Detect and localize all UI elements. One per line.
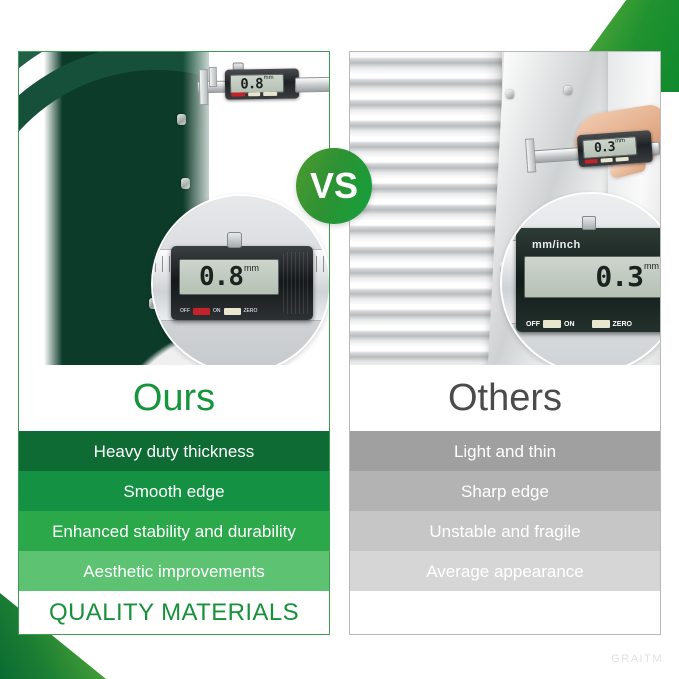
watermark: GRAITM [611,654,663,665]
bolt-icon [564,86,572,95]
caliper-display-large: 0.8 mm [179,259,279,295]
caliper-on-button[interactable] [601,158,613,163]
caliper-thumb-wheel[interactable] [582,216,596,230]
panel-title-row-ours: Ours [19,365,329,431]
caliper-button-row-large: OFF ON ZERO [526,320,632,328]
caliper-small-others: 0.3 mm [525,123,660,179]
panel-title-row-others: Others [350,365,660,431]
caliper-on-label: ON [213,309,221,314]
panel-title-others: Others [448,379,562,417]
caliper-button-row [231,92,277,97]
caliper-off-button[interactable] [231,92,245,96]
caliper-scale-tail [295,77,329,93]
caliper-on-button[interactable] [248,92,260,96]
caliper-value: 0.8 [240,77,263,91]
feature-band: Enhanced stability and durability [19,511,329,551]
caliper-large-ours: 0.8 mm OFF ON ZERO [171,246,313,320]
feature-band: Smooth edge [19,471,329,511]
caliper-unit: mm [644,262,659,271]
panel-title-ours: Ours [133,379,215,417]
magnifier-inset-ours: 0.8 mm OFF ON ZERO [153,196,329,365]
caliper-body: 0.3 mm [577,130,653,167]
caliper-off-button[interactable] [543,320,561,328]
feature-bands-others: Light and thin Sharp edge Unstable and f… [350,431,660,591]
caliper-mode-label: mm/inch [532,240,581,251]
caliper-zero-button[interactable] [263,92,277,96]
panel-footer-ours: QUALITY MATERIALS [19,591,329,634]
caliper-display: 0.3 mm [582,136,637,159]
panel-others: 0.3 mm mm/inch [349,51,661,635]
quality-materials-label: QUALITY MATERIALS [49,601,299,625]
caliper-grip-texture [283,252,309,314]
panel-footer-others [350,591,660,634]
feature-band: Aesthetic improvements [19,551,329,591]
caliper-jaw-upper [209,67,217,87]
corrugated-panel-texture [350,52,502,365]
feature-band: Average appearance [350,551,660,591]
caliper-zero-button[interactable] [592,320,610,328]
caliper-display-large: 0.3 mm [524,256,660,298]
caliper-value: 0.8 [199,264,243,290]
caliper-body: 0.8 mm [225,68,300,99]
feature-band: Sharp edge [350,471,660,511]
vs-label: VS [310,168,358,204]
caliper-small-ours: 0.8 mm [197,59,329,107]
feature-band: Unstable and fragile [350,511,660,551]
caliper-jaw [525,138,536,173]
caliper-thumb-wheel[interactable] [227,232,242,248]
caliper-unit: mm [615,138,625,145]
caliper-off-label: OFF [526,321,540,328]
caliper-zero-label: ZERO [244,309,258,314]
caliper-unit: mm [244,264,259,273]
caliper-on-label: ON [564,321,575,328]
caliper-display: 0.8 mm [230,74,284,94]
caliper-off-button[interactable] [193,308,210,315]
vs-badge: VS [296,148,372,224]
feature-band: Light and thin [350,431,660,471]
feature-band: Heavy duty thickness [19,431,329,471]
caliper-zero-label: ZERO [613,321,632,328]
caliper-off-label: OFF [180,309,190,314]
product-photo-others: 0.3 mm mm/inch [350,52,660,365]
caliper-jaw [199,69,209,105]
product-photo-ours: 0.8 mm [19,52,329,365]
caliper-unit: mm [264,75,274,81]
caliper-zero-button[interactable] [616,157,629,162]
panel-ours: 0.8 mm [18,51,330,635]
caliper-large-others: mm/inch 0.3 mm OFF ON ZERO [516,228,660,332]
bolt-icon [506,90,514,99]
caliper-off-button[interactable] [585,159,598,164]
caliper-button-row-large: OFF ON ZERO [180,308,257,315]
feature-bands-ours: Heavy duty thickness Smooth edge Enhance… [19,431,329,591]
caliper-value: 0.3 [594,141,615,155]
comparison-infographic: 0.8 mm [0,0,679,679]
caliper-value: 0.3 [595,263,643,291]
caliper-on-button[interactable] [224,308,241,315]
